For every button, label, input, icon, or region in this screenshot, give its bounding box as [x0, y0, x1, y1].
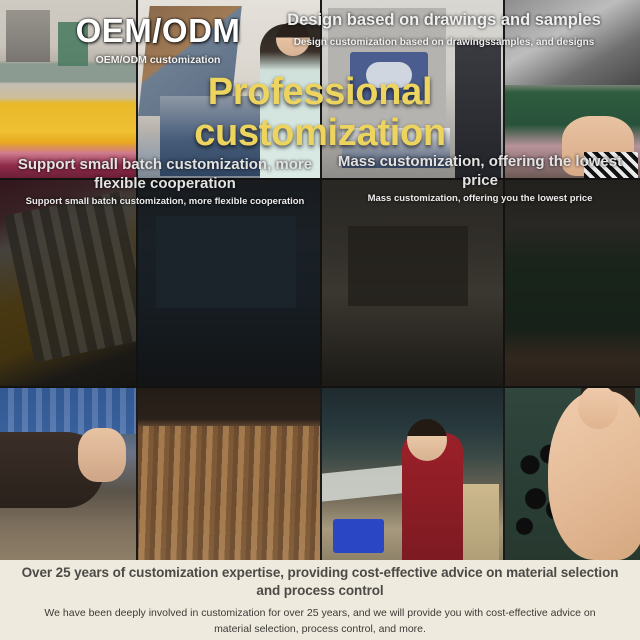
main-headline-block: Professional customization: [0, 72, 640, 154]
footer-heading: Over 25 years of customization expertise…: [20, 564, 620, 600]
small-batch-block: Support small batch customization, more …: [10, 155, 320, 207]
design-drawings-block: Design based on drawings and samples Des…: [258, 10, 630, 48]
photo-worker-blue-cords: [0, 388, 136, 560]
oem-odm-subtext: OEM/ODM customization: [0, 54, 316, 66]
promo-poster: OEM/ODM OEM/ODM customization Design bas…: [0, 0, 640, 640]
mass-customization-block: Mass customization, offering the lowest …: [326, 152, 634, 204]
main-headline-line2: customization: [0, 113, 640, 154]
photo-assembly-worker: [322, 388, 503, 560]
footer-banner: Over 25 years of customization expertise…: [0, 560, 640, 640]
footer-subtext: We have been deeply involved in customiz…: [40, 605, 600, 637]
design-drawings-subtext: Design customization based on drawingssa…: [258, 37, 630, 48]
design-drawings-heading: Design based on drawings and samples: [258, 10, 630, 31]
small-batch-subtext: Support small batch customization, more …: [10, 196, 320, 207]
mass-customization-subtext: Mass customization, offering you the low…: [326, 193, 634, 204]
overlay-band: [0, 178, 640, 388]
photo-hanging-leather-straps: [138, 388, 320, 560]
mass-customization-heading: Mass customization, offering the lowest …: [326, 152, 634, 190]
small-batch-heading: Support small batch customization, more …: [10, 155, 320, 193]
photo-row-3: [0, 388, 640, 560]
photo-hand-orings: [505, 388, 640, 560]
main-headline-line1: Professional: [0, 72, 640, 113]
